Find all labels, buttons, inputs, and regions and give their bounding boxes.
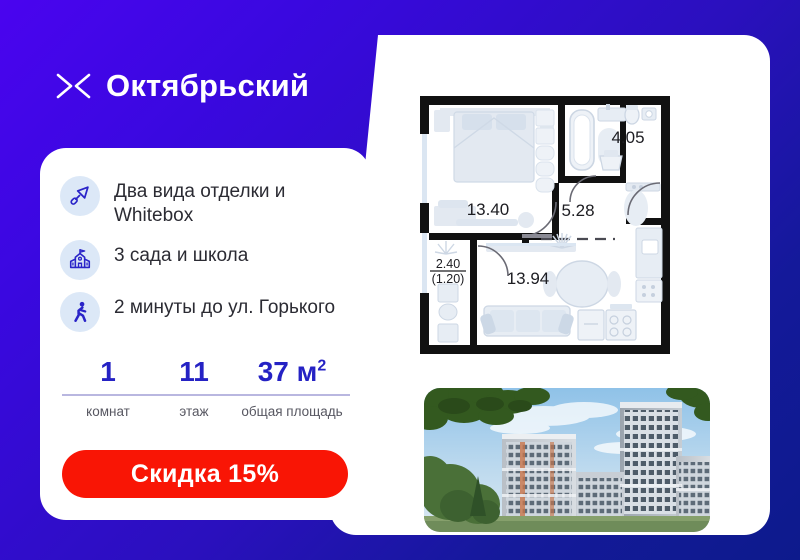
stat-area-number: 37 [258, 356, 289, 387]
room-area-hallway: 5.28 [561, 201, 594, 220]
building-photo [424, 388, 710, 532]
feature-item-schools: 3 сада и школа [60, 240, 360, 280]
feature-list: Два вида отделки и Whitebox 3 сада и шко… [60, 176, 360, 332]
feature-item-finishing: Два вида отделки и Whitebox [60, 176, 360, 228]
stats-divider [62, 394, 350, 396]
info-card: Два вида отделки и Whitebox 3 сада и шко… [40, 148, 370, 520]
feature-label: 2 минуты до ул. Горького [114, 292, 335, 320]
brand-logo[interactable]: Октябрьский [56, 68, 309, 104]
feature-label: 3 сада и школа [114, 240, 248, 268]
stat-label-floor: этаж [154, 403, 234, 420]
balcony-reduced-area: (1.20) [432, 272, 465, 286]
feature-label: Два вида отделки и Whitebox [114, 176, 360, 228]
stats-labels-row: комнат этаж общая площадь [62, 403, 350, 420]
stat-label-rooms: комнат [62, 403, 154, 420]
walking-person-icon [60, 292, 100, 332]
stat-label-area: общая площадь [234, 403, 350, 420]
room-area-bedroom: 13.40 [467, 200, 510, 219]
school-icon [60, 240, 100, 280]
double-chevron-x-icon [56, 72, 92, 100]
floor-plan: 13.40 4.05 5.28 [410, 88, 680, 363]
stats-block: 1 11 37 м2 комнат этаж общая площадь [62, 356, 350, 420]
stat-value-floor: 11 [154, 356, 234, 388]
room-area-living: 13.94 [507, 269, 550, 288]
brand-name: Октябрьский [106, 68, 309, 104]
stat-value-rooms: 1 [62, 356, 154, 388]
room-area-bathroom: 4.05 [611, 128, 644, 147]
stats-values-row: 1 11 37 м2 [62, 356, 350, 388]
balcony-area: 2.40 [436, 257, 460, 271]
trowel-icon [60, 176, 100, 216]
discount-button[interactable]: Скидка 15% [62, 450, 348, 498]
stat-value-area: 37 м2 [234, 356, 350, 388]
square-superscript: 2 [317, 358, 326, 375]
feature-item-walk-distance: 2 минуты до ул. Горького [60, 292, 360, 332]
